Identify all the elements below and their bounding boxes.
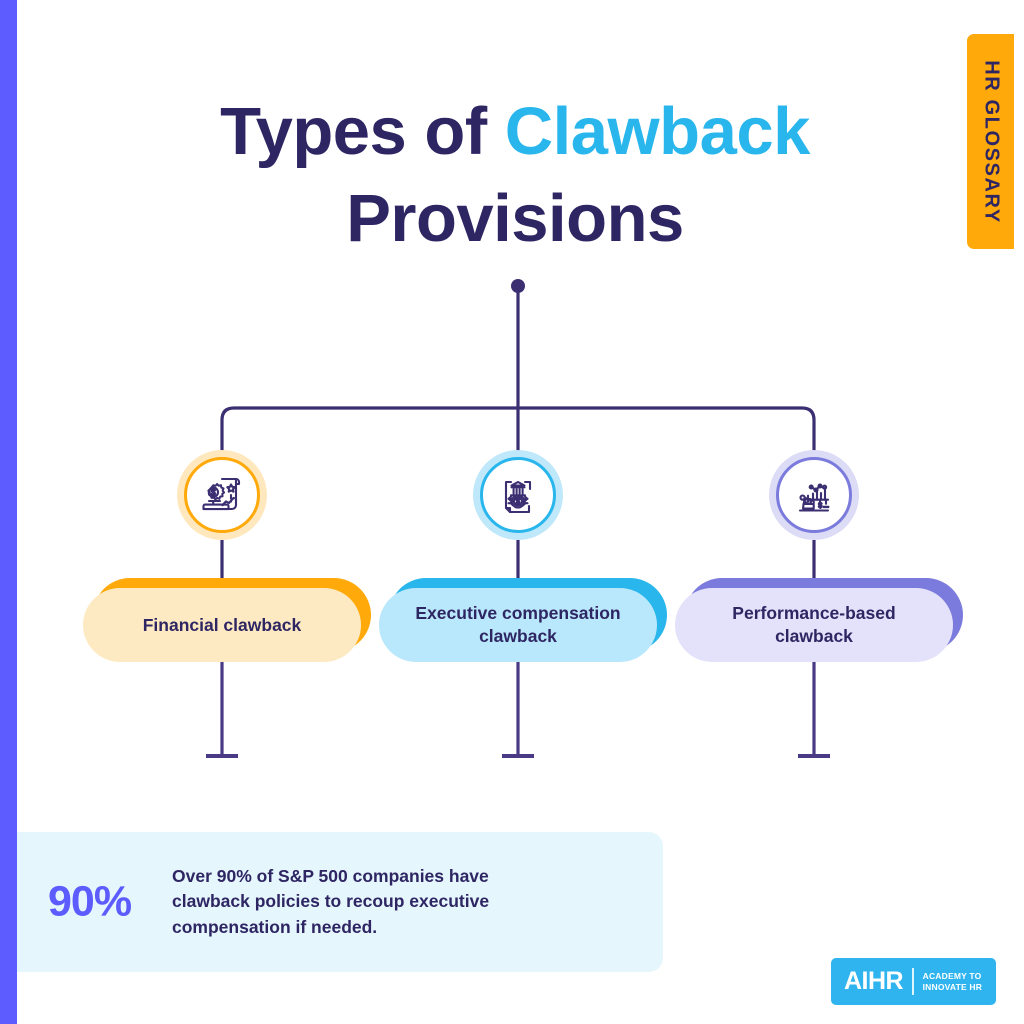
hr-glossary-label: HR GLOSSARY — [979, 60, 1002, 224]
pill-label-performance: Performance-based clawback — [675, 588, 953, 662]
connector-top-dot — [511, 279, 525, 293]
node-financial-icon[interactable] — [177, 450, 267, 540]
tagline-line-1: ACADEMY TO — [923, 971, 983, 982]
left-accent-bar — [0, 0, 17, 1024]
pill-financial-clawback[interactable]: Financial clawback — [83, 588, 361, 662]
aihr-logo[interactable]: AIHR ACADEMY TO INNOVATE HR — [831, 958, 996, 1005]
page-title: Types of Clawback Provisions — [120, 88, 910, 262]
title-part-2: Provisions — [346, 181, 684, 256]
title-part-1: Types of — [220, 94, 505, 169]
stat-panel: 90% Over 90% of S&P 500 companies have c… — [0, 832, 663, 972]
pill-label-executive: Executive compensation clawback — [379, 588, 657, 662]
aihr-logo-name: AIHR — [831, 967, 903, 996]
title-highlight: Clawback — [505, 94, 810, 169]
tagline-line-2: INNOVATE HR — [923, 982, 983, 993]
pill-performance-based-clawback[interactable]: Performance-based clawback — [675, 588, 953, 662]
pill-label-financial: Financial clawback — [83, 588, 361, 662]
hr-glossary-badge: HR GLOSSARY — [967, 34, 1014, 249]
gear-dollar-scroll-icon — [198, 471, 246, 519]
aihr-logo-tagline: ACADEMY TO INNOVATE HR — [923, 971, 983, 992]
stat-description: Over 90% of S&P 500 companies have clawb… — [172, 864, 502, 940]
node-executive-icon[interactable] — [473, 450, 563, 540]
stat-number: 90% — [48, 878, 131, 927]
logo-divider — [912, 968, 914, 995]
bank-dollar-arrows-icon — [494, 471, 542, 519]
infographic-canvas: HR GLOSSARY Types of Clawback Provisions — [0, 0, 1024, 1024]
node-performance-icon[interactable] — [769, 450, 859, 540]
bar-chart-hand-icon — [790, 471, 838, 519]
pill-executive-compensation-clawback[interactable]: Executive compensation clawback — [379, 588, 657, 662]
